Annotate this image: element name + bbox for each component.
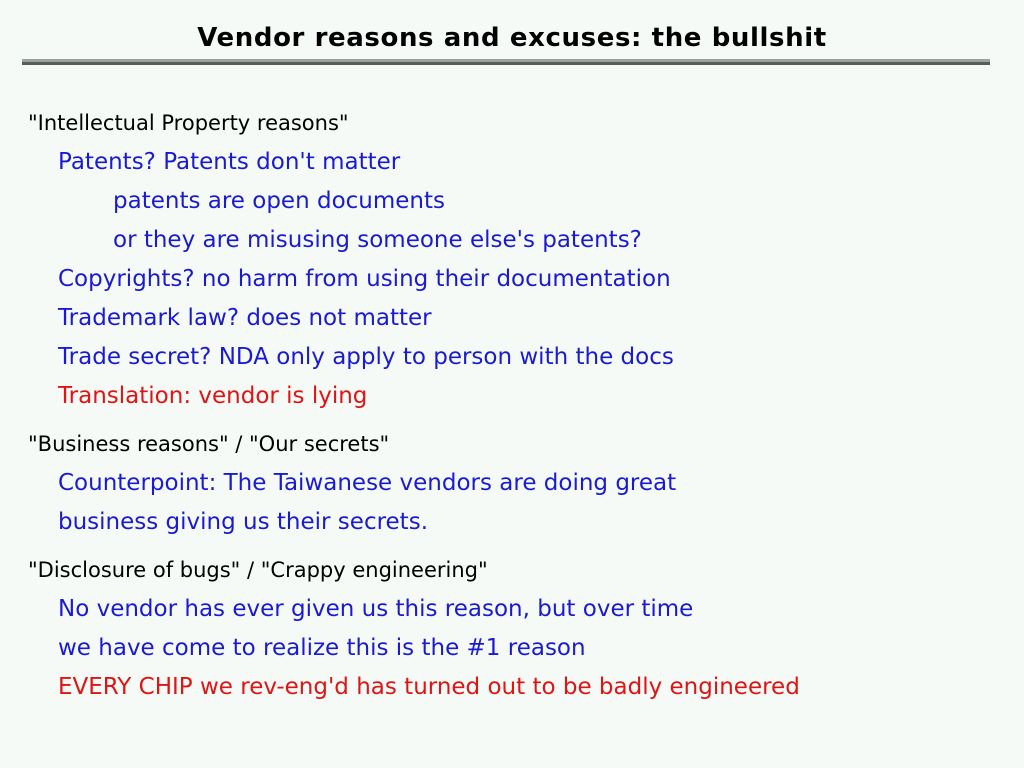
slide-body: "Intellectual Property reasons"Patents? … bbox=[0, 104, 1024, 707]
bullet-line: Copyrights? no harm from using their doc… bbox=[0, 260, 1024, 299]
bullet-line: Trade secret? NDA only apply to person w… bbox=[0, 338, 1024, 377]
bullet-line: EVERY CHIP we rev-eng'd has turned out t… bbox=[0, 668, 1024, 707]
section-heading: "Intellectual Property reasons" bbox=[0, 104, 1024, 143]
section-heading: "Business reasons" / "Our secrets" bbox=[0, 425, 1024, 464]
bullet-line: Counterpoint: The Taiwanese vendors are … bbox=[0, 464, 1024, 503]
bullet-line: Patents? Patents don't matter bbox=[0, 143, 1024, 182]
title-divider bbox=[22, 59, 990, 65]
bullet-line: No vendor has ever given us this reason,… bbox=[0, 590, 1024, 629]
bullet-line: Trademark law? does not matter bbox=[0, 299, 1024, 338]
page-title: Vendor reasons and excuses: the bullshit bbox=[0, 24, 1024, 53]
slide: Vendor reasons and excuses: the bullshit… bbox=[0, 0, 1024, 768]
bullet-line: business giving us their secrets. bbox=[0, 503, 1024, 542]
divider-shadow bbox=[22, 62, 990, 65]
bullet-line: patents are open documents bbox=[0, 182, 1024, 221]
bullet-line: Translation: vendor is lying bbox=[0, 377, 1024, 416]
bullet-line: or they are misusing someone else's pate… bbox=[0, 221, 1024, 260]
bullet-line: we have come to realize this is the #1 r… bbox=[0, 629, 1024, 668]
section-heading: "Disclosure of bugs" / "Crappy engineeri… bbox=[0, 551, 1024, 590]
